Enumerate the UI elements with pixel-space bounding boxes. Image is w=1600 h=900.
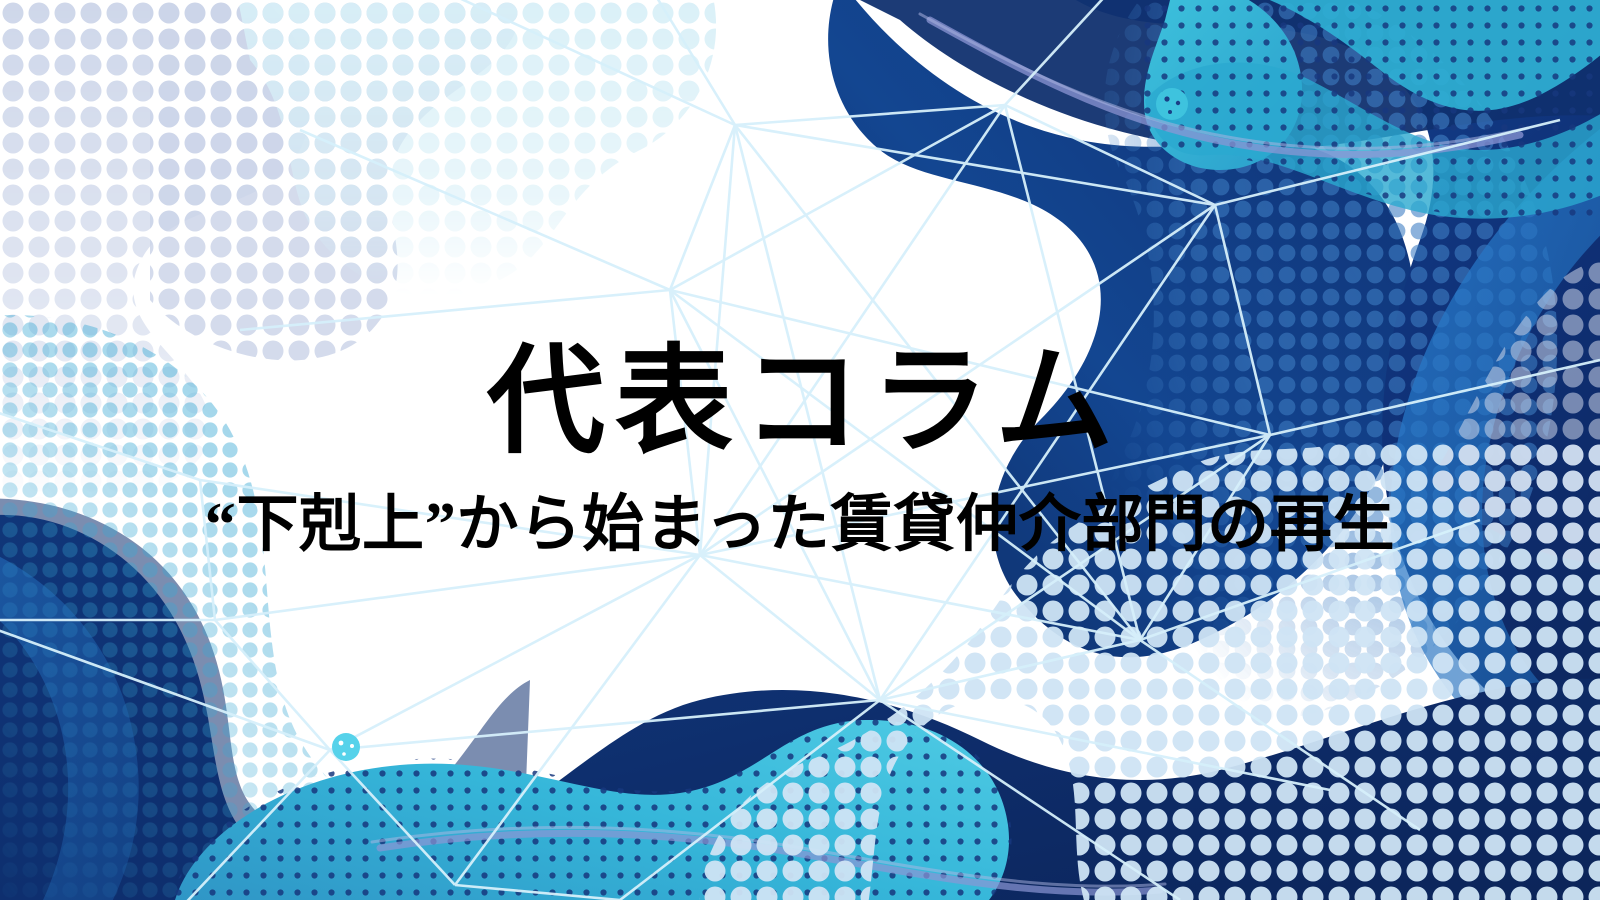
cyan-dotted-bubble-bottom: [332, 733, 360, 761]
column-title-banner: 代表コラム “下剋上”から始まった賃貸仲介部門の再生: [0, 0, 1600, 900]
cyan-dotted-bubble-top: [1156, 88, 1188, 120]
top-center-halftone-blob: [200, 0, 760, 340]
decorative-background-art: [0, 0, 1600, 900]
